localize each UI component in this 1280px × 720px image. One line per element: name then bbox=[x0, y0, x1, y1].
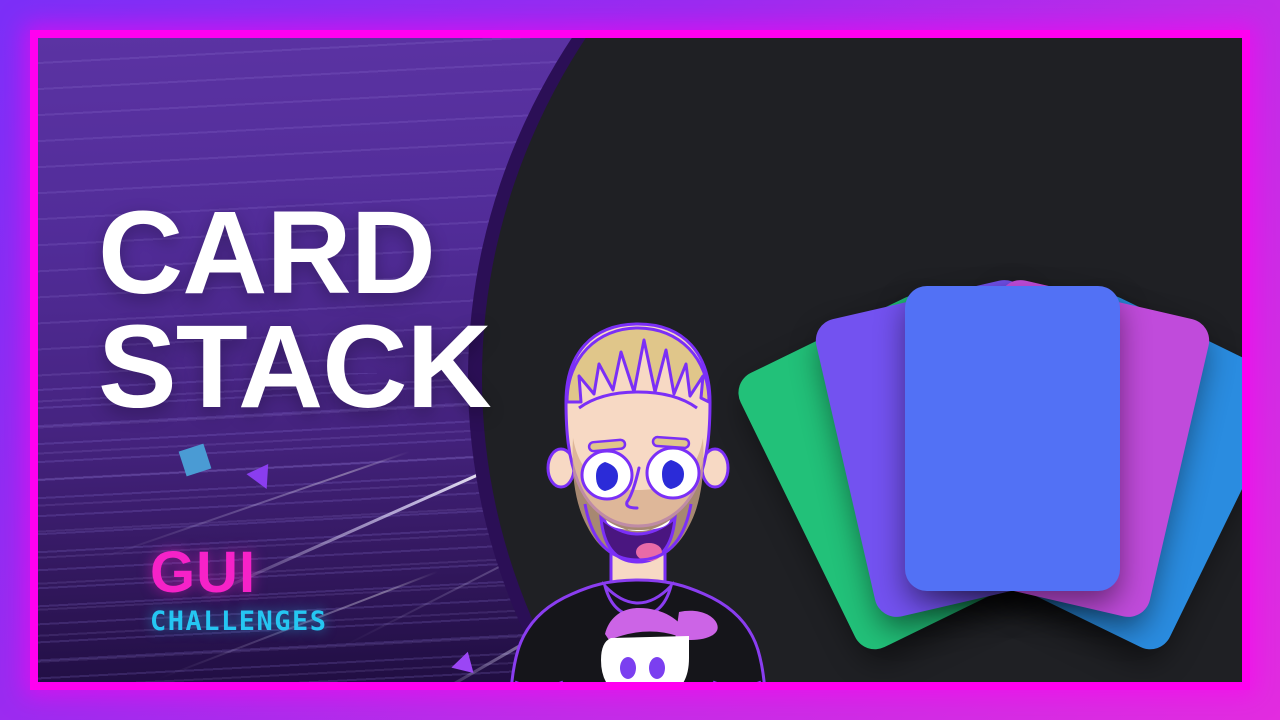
video-thumbnail: CARD STACK bbox=[0, 0, 1280, 720]
card-stack[interactable] bbox=[743, 226, 1242, 656]
title-line-2: STACK bbox=[98, 311, 491, 424]
brand-logo-secondary: CHALLENGES bbox=[150, 608, 328, 635]
page-title: CARD STACK bbox=[98, 84, 491, 537]
host-avatar bbox=[493, 290, 783, 682]
host-avatar-illustration bbox=[493, 290, 783, 682]
brand-logo-primary: GUI bbox=[150, 544, 328, 602]
brand-logo: GUI CHALLENGES bbox=[150, 544, 328, 635]
thumbnail-stage: CARD STACK bbox=[38, 38, 1242, 682]
card-front[interactable] bbox=[905, 286, 1120, 591]
title-line-1: CARD bbox=[98, 187, 435, 319]
avatar-head bbox=[548, 324, 728, 562]
